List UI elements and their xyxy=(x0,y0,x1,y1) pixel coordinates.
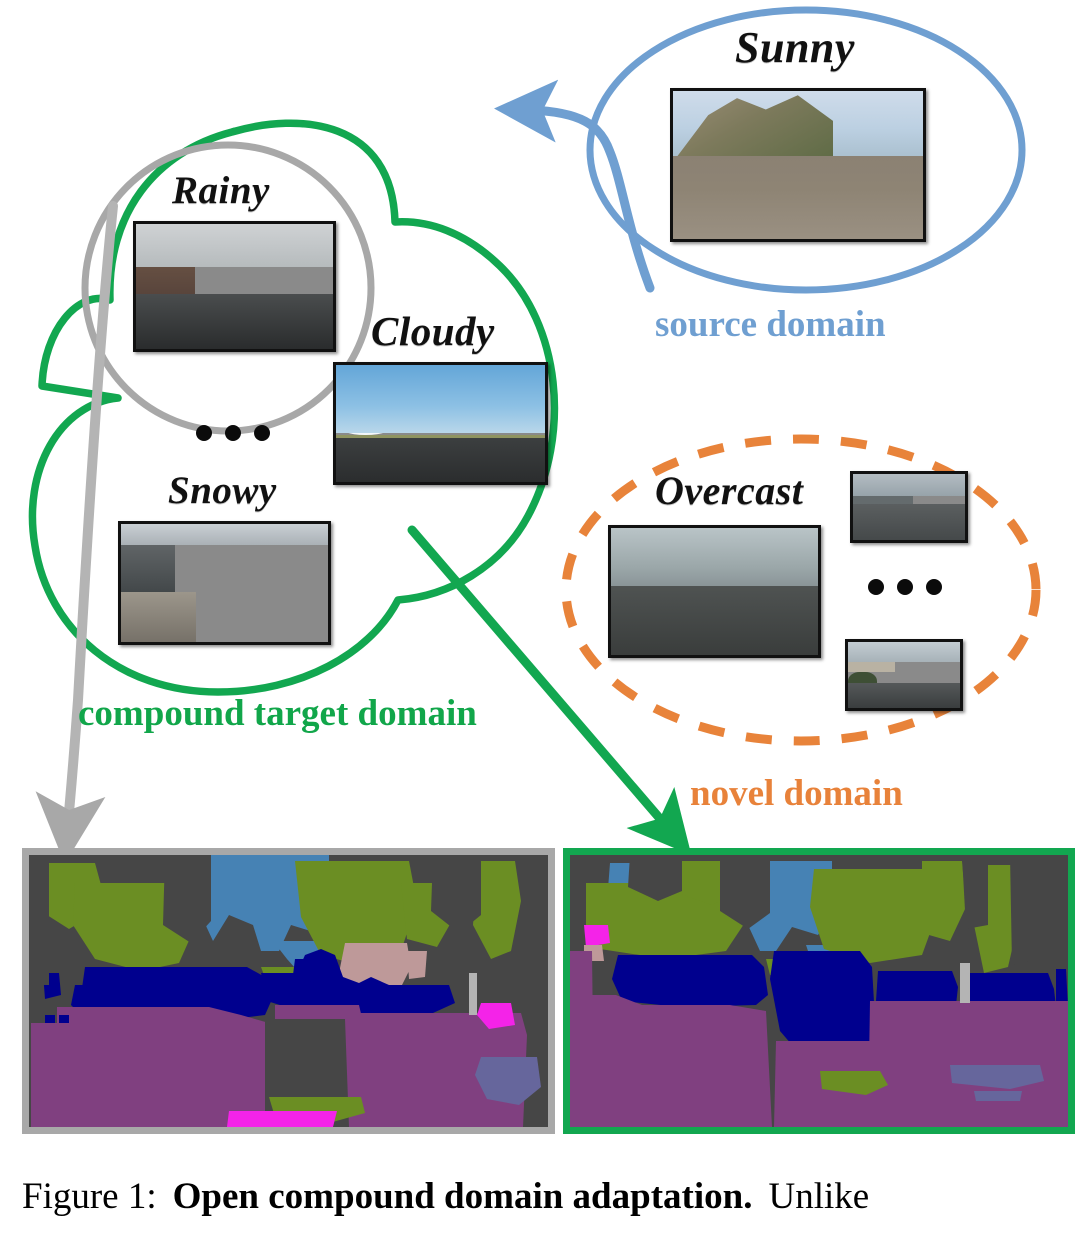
thumbnail-suburban-street xyxy=(845,639,963,711)
right-segmentation-map xyxy=(563,848,1075,1134)
caption-prefix: Figure 1: xyxy=(22,1176,157,1217)
thumbnail-rainy xyxy=(133,221,336,352)
figure-caption: Figure 1:Open compound domain adaptation… xyxy=(22,1175,1062,1218)
ellipsis-compound-target-domain xyxy=(196,425,270,441)
group-caption-source-domain: source domain xyxy=(655,303,886,346)
thumbnail-rainy-crosswalk xyxy=(850,471,968,543)
group-caption-compound-target-domain: compound target domain xyxy=(78,692,477,735)
left-segmentation-canvas xyxy=(29,855,548,1127)
caption-suffix: Unlike xyxy=(768,1176,869,1217)
domain-label-rainy: Rainy xyxy=(172,168,270,213)
domain-label-sunny: Sunny xyxy=(735,22,855,73)
domain-label-overcast: Overcast xyxy=(655,467,803,514)
thumbnail-overcast xyxy=(608,525,821,658)
figure-open-compound-domain-adaptation: Sunny source domain Rainy Cloudy Snowy c… xyxy=(0,0,1080,1238)
ellipsis-novel-domain xyxy=(868,579,942,595)
caption-bold-title: Open compound domain adaptation. xyxy=(173,1176,753,1217)
domain-label-cloudy: Cloudy xyxy=(371,307,495,355)
thumbnail-cloudy xyxy=(333,362,548,485)
group-caption-novel-domain: novel domain xyxy=(690,772,903,815)
thumbnail-sunny xyxy=(670,88,926,242)
right-segmentation-canvas xyxy=(570,855,1068,1127)
thumbnail-snowy xyxy=(118,521,331,645)
left-segmentation-map xyxy=(22,848,555,1134)
domain-label-snowy: Snowy xyxy=(168,468,277,513)
